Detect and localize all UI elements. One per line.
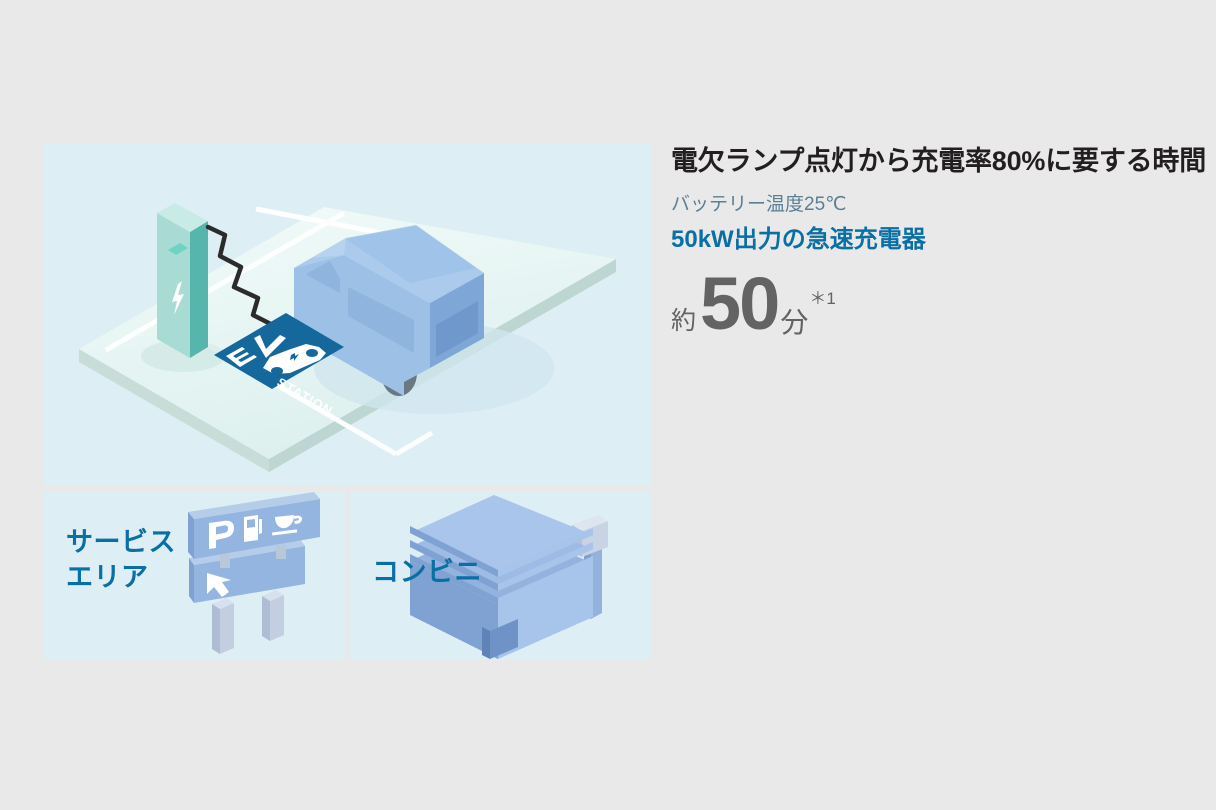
feature-panel-service-area: サービス エリア <box>44 491 345 660</box>
charger-type-label: 50kW出力の急速充電器 <box>671 217 1191 255</box>
value-unit: 分 <box>778 309 808 341</box>
sign-connector <box>220 554 230 568</box>
sign-posts <box>212 590 284 654</box>
feature-label-convenience-store: コンビニ <box>372 555 482 590</box>
page-title: 電欠ランプ点灯から充電率80%に要する時間 <box>671 146 1191 177</box>
value-number: 50 <box>696 267 778 341</box>
feature-panel-convenience-store: コンビニ <box>350 491 651 660</box>
value-prefix: 約 <box>671 309 696 341</box>
value-footnote-marker: ＊1 <box>808 290 835 341</box>
charging-info-block: 電欠ランプ点灯から充電率80%に要する時間 バッテリー温度25℃ 50kW出力の… <box>671 146 1191 341</box>
ev-charging-scene-svg: STATION <box>44 143 651 486</box>
hero-illustration-panel: STATION <box>44 143 651 486</box>
charging-time-value: 約 50 分 ＊1 <box>671 255 1191 341</box>
infographic-root: STATION <box>0 0 1216 810</box>
feature-label-service-area: サービス エリア <box>66 525 176 594</box>
sign-connector <box>276 545 286 559</box>
battery-temperature-note: バッテリー温度25℃ <box>671 177 1191 217</box>
